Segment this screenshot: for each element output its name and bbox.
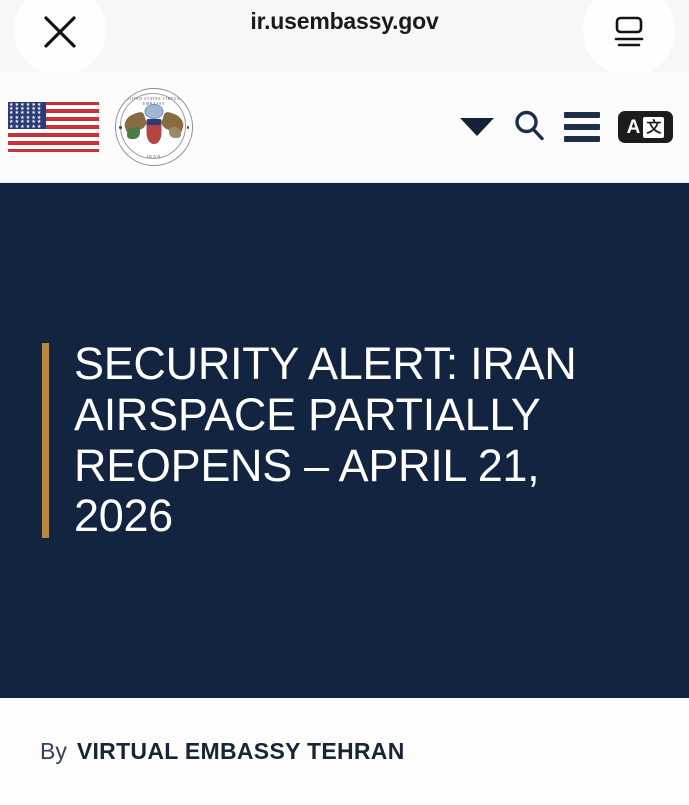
chevron-down-icon (460, 118, 494, 136)
reader-view-button[interactable] (601, 6, 657, 62)
hero-accent-bar (42, 343, 49, 538)
page-title: SECURITY ALERT: IRAN AIRSPACE PARTIALLY … (74, 339, 629, 542)
hero-content: SECURITY ALERT: IRAN AIRSPACE PARTIALLY … (42, 339, 629, 542)
url-title: ir.usembassy.gov (0, 8, 689, 35)
byline-author[interactable]: VIRTUAL EMBASSY TEHRAN (77, 738, 405, 765)
translate-cjk-glyph: 文 (643, 117, 664, 138)
byline: By VIRTUAL EMBASSY TEHRAN (40, 738, 405, 765)
browser-top-bar: ir.usembassy.gov (0, 0, 689, 72)
reader-view-icon (610, 15, 648, 54)
site-navigation-bar: ★★★★★★★★★★★★★★★★★★★★★★★★★★★★★★★★★★★★★★★★… (0, 72, 689, 183)
menu-button[interactable] (564, 112, 600, 142)
seal-bottom-text: IRAN (116, 154, 192, 159)
translate-button[interactable]: A 文 (618, 111, 673, 143)
byline-region: By VIRTUAL EMBASSY TEHRAN (0, 698, 689, 805)
hamburger-menu-icon (564, 112, 600, 142)
search-icon (512, 108, 546, 147)
us-flag-icon: ★★★★★★★★★★★★★★★★★★★★★★★★★★★★★★★★★★★★★★★★… (8, 102, 99, 153)
hero-banner: SECURITY ALERT: IRAN AIRSPACE PARTIALLY … (0, 183, 689, 698)
nav-actions: A 文 (460, 72, 673, 182)
language-dropdown-button[interactable] (460, 118, 494, 136)
byline-label: By (40, 738, 67, 765)
embassy-seal-icon: UNITED STATES VIRTUAL EMBASSY IRAN (115, 88, 193, 166)
search-button[interactable] (512, 108, 546, 147)
translate-latin-glyph: A (627, 118, 641, 137)
site-brand[interactable]: ★★★★★★★★★★★★★★★★★★★★★★★★★★★★★★★★★★★★★★★★… (8, 72, 193, 182)
